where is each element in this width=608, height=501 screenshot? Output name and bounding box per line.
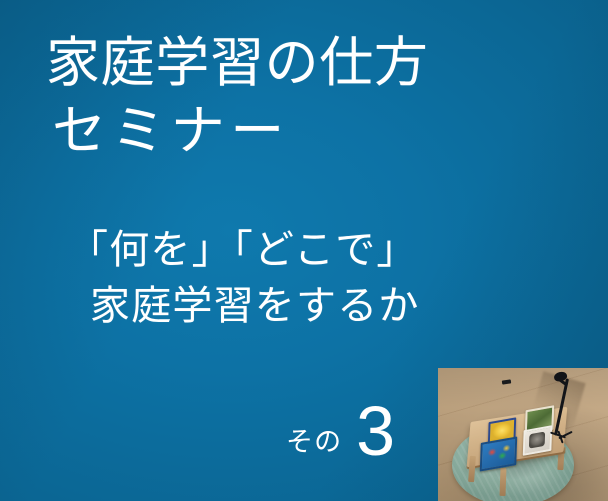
slide-subtitle-line-2: 家庭学習をするか bbox=[90, 282, 420, 330]
table-leg-front bbox=[500, 468, 507, 496]
cat-photo-card bbox=[523, 425, 552, 456]
study-table-photo bbox=[438, 368, 608, 501]
slide-subtitle-line-1: 「何を」「どこで」 bbox=[68, 226, 418, 274]
part-indicator: その 3 bbox=[286, 398, 395, 464]
slide-title-line-1: 家庭学習の仕方 bbox=[46, 32, 429, 94]
presentation-slide: 家庭学習の仕方 セミナー 「何を」「どこで」 家庭学習をするか その 3 bbox=[0, 0, 608, 501]
slide-title-line-2: セミナー bbox=[52, 100, 290, 162]
part-prefix-label: その bbox=[286, 428, 342, 464]
part-number: 3 bbox=[356, 398, 395, 464]
